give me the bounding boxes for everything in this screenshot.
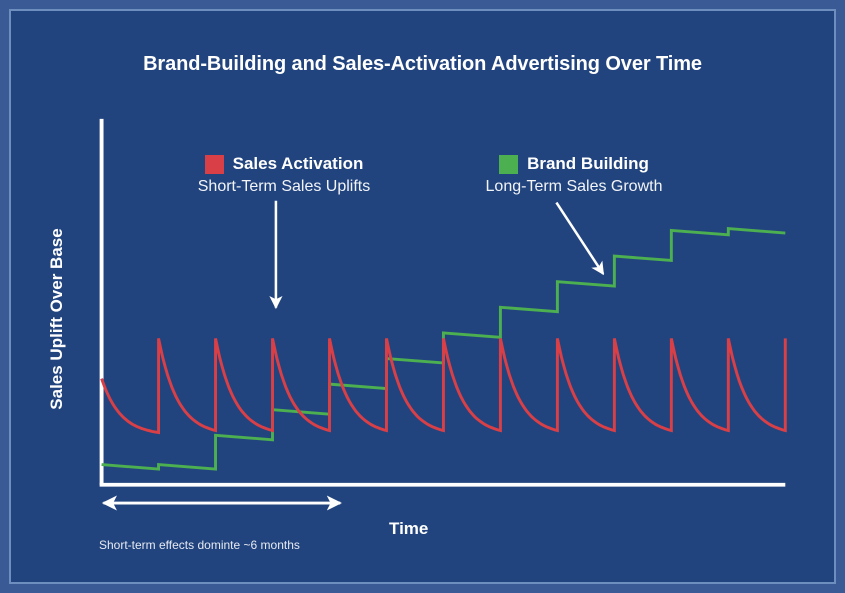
chart-plot-area bbox=[11, 11, 834, 582]
chart-frame: Brand-Building and Sales-Activation Adve… bbox=[0, 0, 845, 593]
sales-activation-series bbox=[102, 338, 786, 432]
diagonal-arrow-icon bbox=[556, 203, 603, 274]
chart-panel: Brand-Building and Sales-Activation Adve… bbox=[9, 9, 836, 584]
